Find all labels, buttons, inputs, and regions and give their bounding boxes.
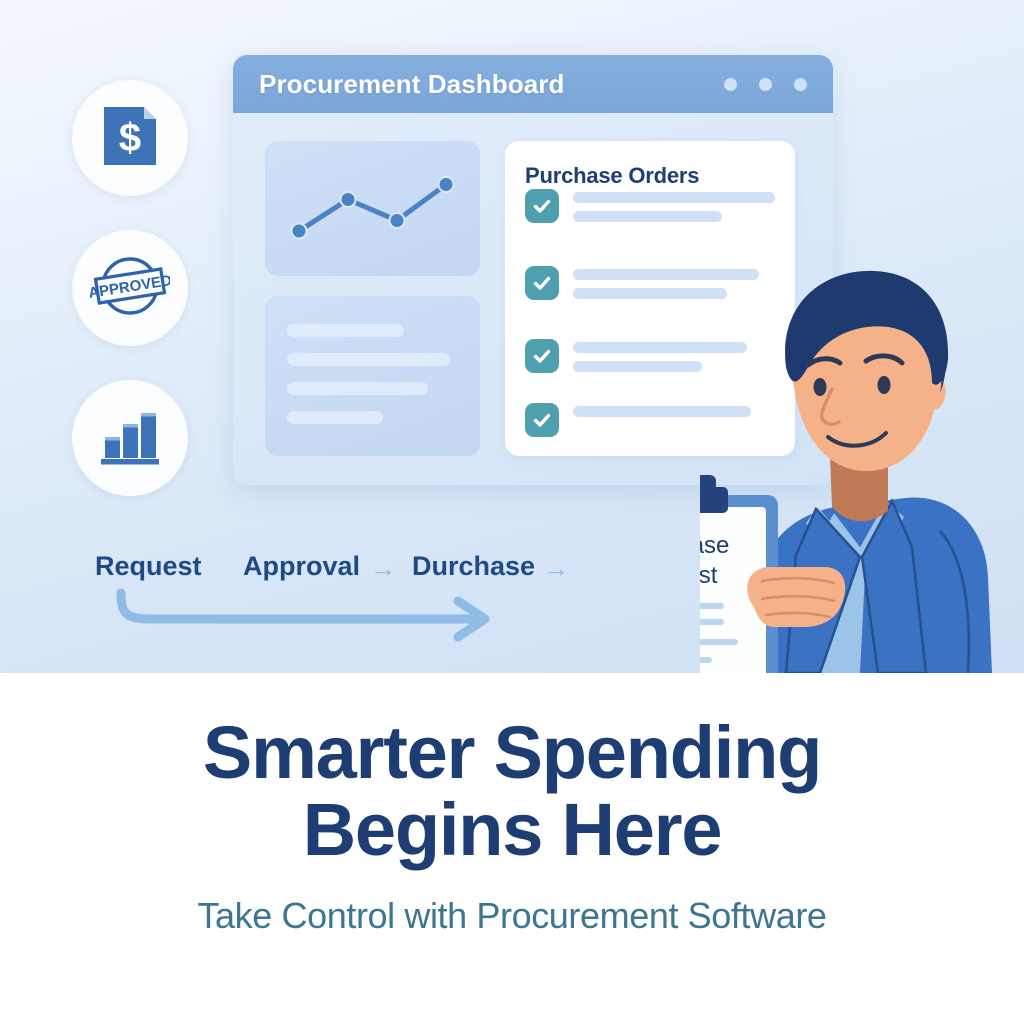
workflow-curved-arrow — [113, 585, 513, 647]
placeholder-line — [287, 324, 404, 337]
window-controls[interactable] — [724, 78, 807, 91]
window-titlebar: Procurement Dashboard — [233, 55, 833, 113]
purchase-orders-title: Purchase Orders — [525, 163, 775, 189]
workflow-steps: Request Approval → Durchase → — [95, 545, 615, 645]
eye-left — [814, 378, 827, 396]
window-title: Procurement Dashboard — [259, 69, 565, 100]
purchase-order-row[interactable] — [525, 189, 775, 230]
line-chart-point-2[interactable] — [341, 192, 356, 207]
workflow-arrow-2: → — [543, 553, 569, 584]
window-dot-2[interactable] — [759, 78, 772, 91]
line-chart-point-1[interactable] — [292, 224, 307, 239]
line-chart-point-4[interactable] — [439, 177, 454, 192]
placeholder-line — [287, 382, 428, 395]
headline-line-1: Smarter Spending — [0, 715, 1024, 792]
eye-right — [878, 376, 891, 394]
headline-line-2: Begins Here — [0, 792, 1024, 869]
businessman-with-clipboard: Purchase Request — [700, 255, 1024, 673]
checkbox-checked-icon[interactable] — [525, 339, 559, 373]
line-chart-point-3[interactable] — [390, 213, 405, 228]
window-dot-1[interactable] — [724, 78, 737, 91]
bar-chart-icon — [97, 405, 163, 472]
approved-stamp-icon: APPROVED — [90, 250, 170, 327]
svg-text:$: $ — [119, 116, 141, 160]
invoice-dollar-icon: $ — [100, 103, 160, 174]
clipboard-title-line2: Request — [700, 562, 718, 589]
purchase-order-line — [573, 361, 702, 372]
placeholder-line — [287, 353, 450, 366]
placeholder-line — [287, 411, 383, 424]
workflow-step-approval[interactable]: Approval — [243, 551, 360, 582]
hero-illustration: $ APPROVED — [0, 0, 1024, 673]
text-band: Smarter Spending Begins Here Take Contro… — [0, 673, 1024, 1024]
trend-chart-card[interactable] — [265, 141, 480, 276]
window-dot-3[interactable] — [794, 78, 807, 91]
badge-invoice[interactable]: $ — [72, 80, 188, 196]
clipboard-title-line1: Purchase — [700, 532, 729, 559]
placeholder-text-card — [265, 296, 480, 456]
checkbox-checked-icon[interactable] — [525, 266, 559, 300]
subheadline: Take Control with Procurement Software — [0, 895, 1024, 937]
workflow-step-request[interactable]: Request — [95, 551, 202, 582]
purchase-order-line — [573, 192, 775, 203]
badge-bar-chart[interactable] — [72, 380, 188, 496]
headline: Smarter Spending Begins Here — [0, 715, 1024, 869]
checkbox-checked-icon[interactable] — [525, 189, 559, 223]
hand — [747, 567, 845, 627]
line-chart — [265, 141, 480, 276]
workflow-step-purchase[interactable]: Durchase — [412, 551, 535, 582]
purchase-order-text-lines — [573, 189, 775, 230]
workflow-arrow-1: → — [370, 553, 396, 584]
line-chart-series — [299, 185, 446, 232]
checkbox-checked-icon[interactable] — [525, 403, 559, 437]
purchase-order-line — [573, 211, 722, 222]
badge-approved[interactable]: APPROVED — [72, 230, 188, 346]
